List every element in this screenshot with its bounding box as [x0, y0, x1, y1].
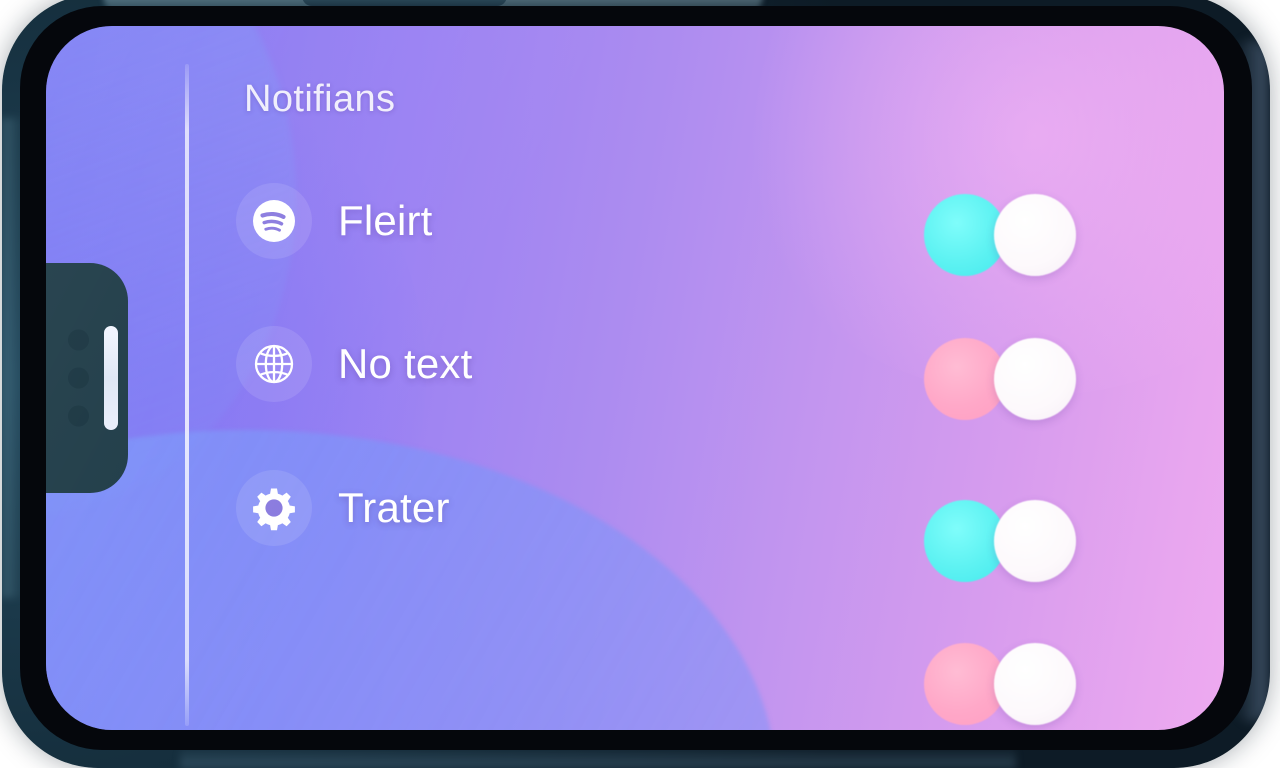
- toggle-switch-2[interactable]: [924, 338, 1076, 420]
- phone-screen: Notifians: [46, 26, 1224, 730]
- list-item-label: Trater: [338, 484, 450, 532]
- icon-badge: [236, 183, 312, 259]
- icon-badge: [236, 326, 312, 402]
- screenshot-stage: Notifians: [0, 0, 1280, 768]
- gear-icon: [249, 483, 299, 533]
- toggle-knob[interactable]: [994, 643, 1076, 725]
- toggle-switch-3[interactable]: [924, 500, 1076, 582]
- settings-content: Notifians: [46, 26, 1224, 730]
- list-item-label: Fleirt: [338, 197, 433, 245]
- page-title: Notifians: [244, 78, 395, 121]
- spotify-icon: [250, 197, 298, 245]
- toggle-knob[interactable]: [994, 338, 1076, 420]
- globe-icon: [249, 339, 299, 389]
- toggle-knob[interactable]: [994, 194, 1076, 276]
- toggle-switch-4[interactable]: [924, 643, 1076, 725]
- toggle-switch-1[interactable]: [924, 194, 1076, 276]
- phone-inner-frame: Notifians: [20, 6, 1252, 750]
- list-item-label: No text: [338, 340, 472, 388]
- icon-badge: [236, 470, 312, 546]
- phone-body: Notifians: [2, 0, 1270, 768]
- toggle-knob[interactable]: [994, 500, 1076, 582]
